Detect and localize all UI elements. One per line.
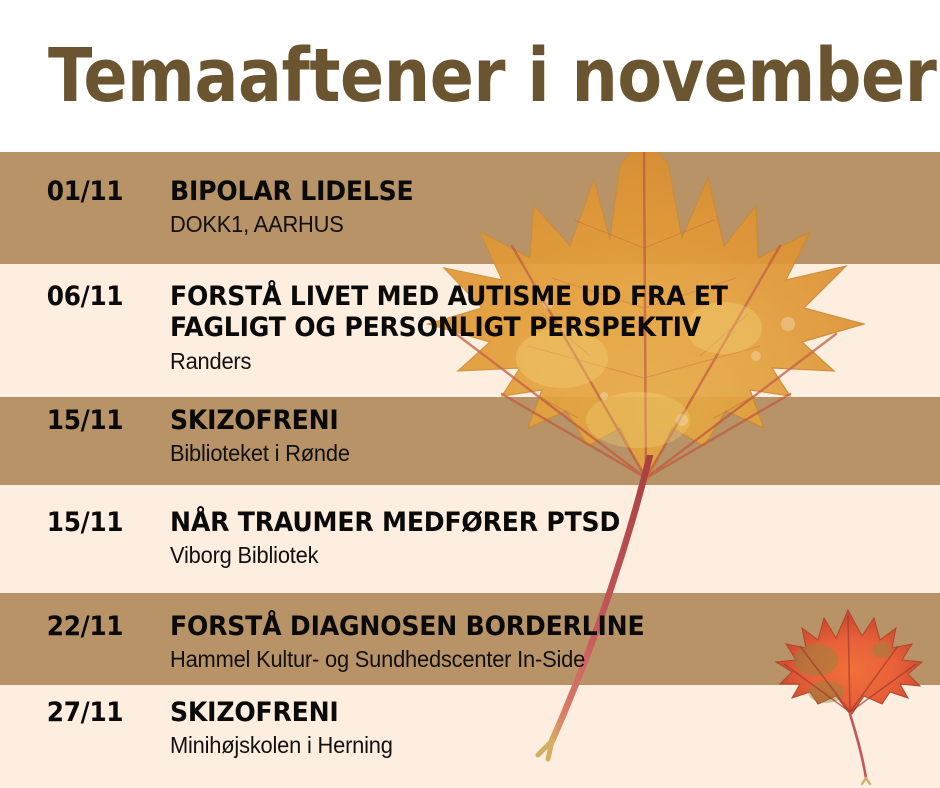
event-details: BIPOLAR LIDELSEDOKK1, AARHUS — [170, 176, 940, 238]
event-details: NÅR TRAUMER MEDFØRER PTSDViborg Bibliote… — [170, 507, 940, 569]
event-date: 15/11 — [7, 507, 163, 538]
event-date: 01/11 — [7, 176, 163, 207]
event-row[interactable]: 15/11SKIZOFRENIBiblioteket i Rønde — [0, 405, 940, 467]
page-title: Temaaftener i november — [48, 39, 936, 113]
event-row[interactable]: 27/11SKIZOFRENIMinihøjskolen i Herning — [0, 697, 940, 759]
event-details: FORSTÅ DIAGNOSEN BORDERLINEHammel Kultur… — [170, 611, 940, 673]
event-date: 27/11 — [7, 697, 163, 728]
event-venue: DOKK1, AARHUS — [170, 211, 888, 238]
event-title: FORSTÅ DIAGNOSEN BORDERLINE — [170, 611, 873, 642]
poster-canvas: Temaaftener i november 01/11BIPOLAR LIDE… — [0, 0, 940, 788]
event-details: SKIZOFRENIMinihøjskolen i Herning — [170, 697, 940, 759]
event-venue: Hammel Kultur- og Sundhedscenter In-Side — [170, 646, 888, 673]
event-title: BIPOLAR LIDELSE — [170, 176, 873, 207]
event-row[interactable]: 01/11BIPOLAR LIDELSEDOKK1, AARHUS — [0, 176, 940, 238]
title-bar: Temaaftener i november — [0, 0, 940, 152]
event-title: FORSTÅ LIVET MED AUTISME UD FRA ET FAGLI… — [170, 281, 873, 344]
event-details: FORSTÅ LIVET MED AUTISME UD FRA ET FAGLI… — [170, 281, 940, 375]
event-venue: Viborg Bibliotek — [170, 542, 888, 569]
event-venue: Minihøjskolen i Herning — [170, 732, 888, 759]
event-date: 15/11 — [7, 405, 163, 436]
event-details: SKIZOFRENIBiblioteket i Rønde — [170, 405, 940, 467]
event-title: SKIZOFRENI — [170, 405, 873, 436]
event-row[interactable]: 15/11NÅR TRAUMER MEDFØRER PTSDViborg Bib… — [0, 507, 940, 569]
event-row[interactable]: 06/11FORSTÅ LIVET MED AUTISME UD FRA ET … — [0, 281, 940, 375]
event-venue: Biblioteket i Rønde — [170, 440, 888, 467]
event-date: 06/11 — [7, 281, 163, 312]
event-title: NÅR TRAUMER MEDFØRER PTSD — [170, 507, 873, 538]
event-title: SKIZOFRENI — [170, 697, 873, 728]
event-date: 22/11 — [7, 611, 163, 642]
event-venue: Randers — [170, 348, 888, 375]
event-row[interactable]: 22/11FORSTÅ DIAGNOSEN BORDERLINEHammel K… — [0, 611, 940, 673]
